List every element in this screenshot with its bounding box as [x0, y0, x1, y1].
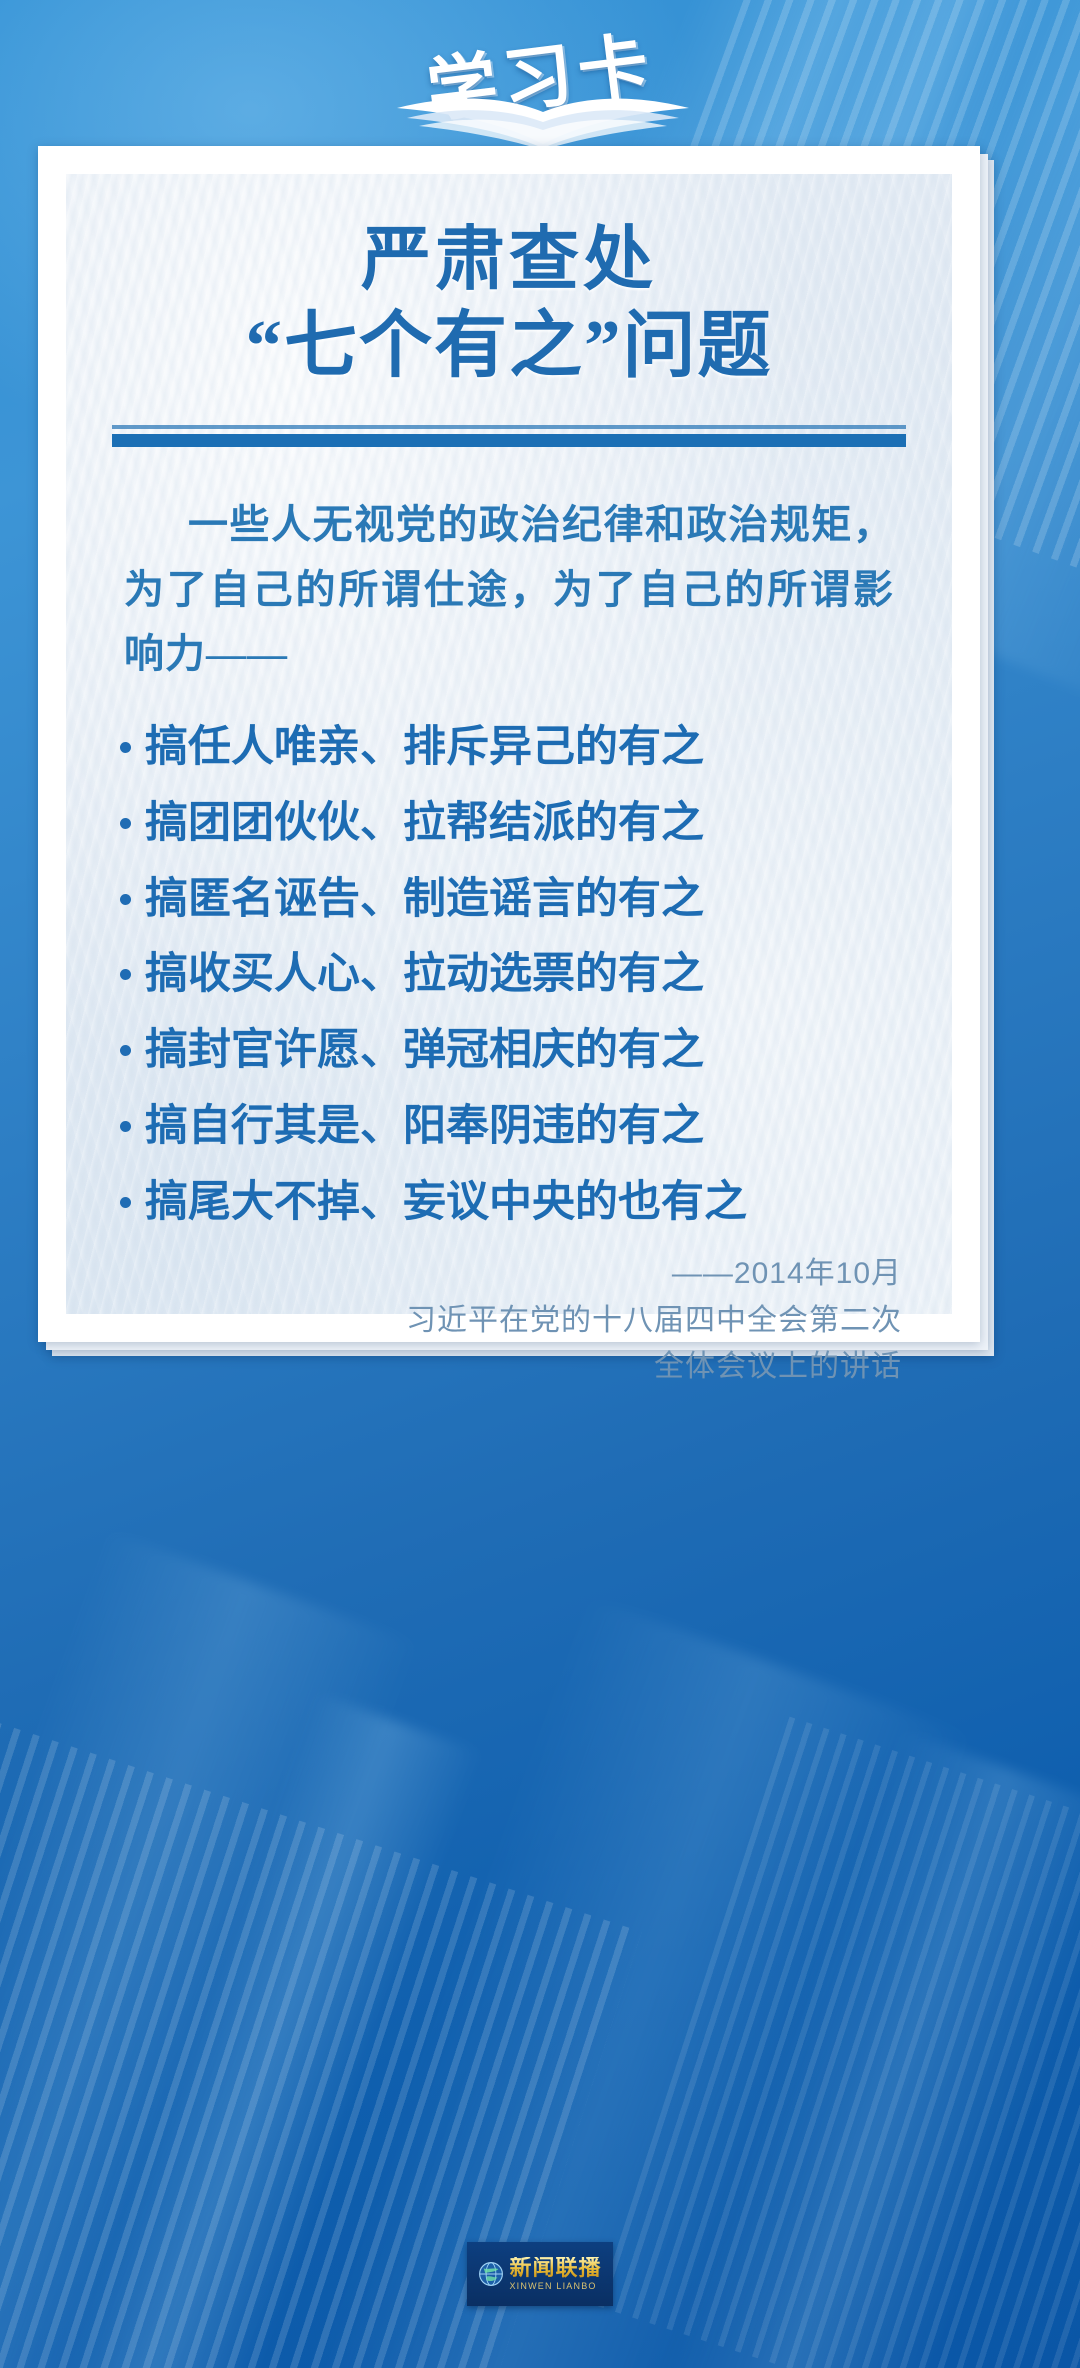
- quote-card: 严肃查处 “七个有之”问题 一些人无视党的政治纪律和政治规矩，为了自己的所谓仕途…: [38, 146, 980, 1342]
- bullet-dot-icon: [120, 818, 131, 829]
- page-title: 严肃查处 “七个有之”问题: [110, 220, 908, 389]
- bullet-dot-icon: [120, 742, 131, 753]
- attribution-line-1: ——2014年10月: [110, 1251, 902, 1298]
- intro-paragraph: 一些人无视党的政治纪律和政治规矩，为了自己的所谓仕途，为了自己的所谓影响力——: [110, 493, 908, 687]
- bullet-dot-icon: [120, 894, 131, 905]
- bullet-dot-icon: [120, 1121, 131, 1132]
- bullet-dot-icon: [120, 1045, 131, 1056]
- headline-line-1: 严肃查处: [361, 222, 657, 299]
- list-item: 搞匿名诬告、制造谣言的有之: [120, 873, 898, 927]
- list-item: 搞自行其是、阳奉阴违的有之: [120, 1100, 898, 1154]
- footer-badge: 新闻联播 XINWEN LIANBO: [467, 2242, 613, 2306]
- divider: [112, 425, 906, 447]
- background-ribbon: [282, 1595, 978, 2368]
- background-ribbon: [638, 1728, 1080, 2368]
- badge-title-en: XINWEN LIANBO: [509, 2282, 596, 2291]
- list-item: 搞任人唯亲、排斥异己的有之: [120, 721, 898, 775]
- background-stripes-bottom-right: [598, 1717, 1080, 2368]
- bullet-dot-icon: [120, 1197, 131, 1208]
- attribution-line-2: 习近平在党的十八届四中全会第二次: [110, 1298, 902, 1345]
- background-ribbon: [0, 1529, 424, 2368]
- list-item-label: 搞封官许愿、弹冠相庆的有之: [145, 1024, 704, 1078]
- list-item-label: 搞匿名诬告、制造谣言的有之: [145, 873, 704, 927]
- list-item: 搞团团伙伙、拉帮结派的有之: [120, 797, 898, 851]
- list-item: 搞收买人心、拉动选票的有之: [120, 948, 898, 1002]
- open-book-icon: [393, 92, 693, 150]
- background-ribbon: [55, 1692, 484, 2368]
- headline-line-2: “七个有之”问题: [110, 303, 908, 389]
- bullet-list: 搞任人唯亲、排斥异己的有之 搞团团伙伙、拉帮结派的有之 搞匿名诬告、制造谣言的有…: [110, 721, 908, 1251]
- list-item-label: 搞尾大不掉、妄议中央的也有之: [145, 1176, 747, 1230]
- badge-title-cn: 新闻联播: [509, 2257, 601, 2279]
- list-item-label: 搞团团伙伙、拉帮结派的有之: [145, 797, 704, 851]
- globe-icon: [478, 2261, 504, 2287]
- attribution: ——2014年10月 习近平在党的十八届四中全会第二次 全体会议上的讲话: [110, 1251, 908, 1391]
- bullet-dot-icon: [120, 969, 131, 980]
- brand-header: 学习卡: [0, 18, 1080, 146]
- list-item: 搞封官许愿、弹冠相庆的有之: [120, 1024, 898, 1078]
- list-item-label: 搞收买人心、拉动选票的有之: [145, 948, 704, 1002]
- list-item: 搞尾大不掉、妄议中央的也有之: [120, 1176, 898, 1230]
- list-item-label: 搞任人唯亲、排斥异己的有之: [145, 721, 704, 775]
- attribution-line-3: 全体会议上的讲话: [110, 1344, 902, 1391]
- quote-card-stack: 严肃查处 “七个有之”问题 一些人无视党的政治纪律和政治规矩，为了自己的所谓仕途…: [38, 146, 1040, 1376]
- list-item-label: 搞自行其是、阳奉阴违的有之: [145, 1100, 704, 1154]
- poster-background: 学习卡 严肃查处 “七个有之”问题: [0, 0, 1080, 2368]
